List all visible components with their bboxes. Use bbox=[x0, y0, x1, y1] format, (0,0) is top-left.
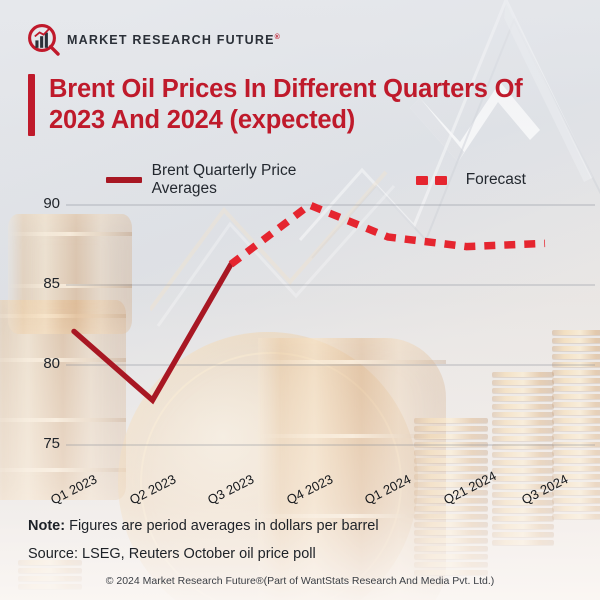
note-prefix: Note: bbox=[28, 518, 65, 534]
infographic-canvas: MARKET RESEARCH FUTURE® Brent Oil Prices… bbox=[0, 0, 600, 600]
line-chart: 75808590 Q1 2023Q2 2023Q3 2023Q4 2023Q1 … bbox=[0, 0, 600, 600]
y-axis-tick-label: 75 bbox=[20, 435, 60, 452]
chart-plot-area bbox=[0, 0, 600, 600]
y-axis-tick-label: 85 bbox=[20, 275, 60, 292]
y-axis-tick-label: 90 bbox=[20, 195, 60, 212]
source-text: Source: LSEG, Reuters October oil price … bbox=[28, 546, 316, 562]
note-body: Figures are period averages in dollars p… bbox=[65, 518, 379, 534]
series-dashed-line bbox=[231, 205, 545, 264]
note-text: Note: Figures are period averages in dol… bbox=[28, 518, 379, 534]
y-axis-tick-label: 80 bbox=[20, 355, 60, 372]
copyright-text: © 2024 Market Research Future®(Part of W… bbox=[0, 575, 600, 587]
